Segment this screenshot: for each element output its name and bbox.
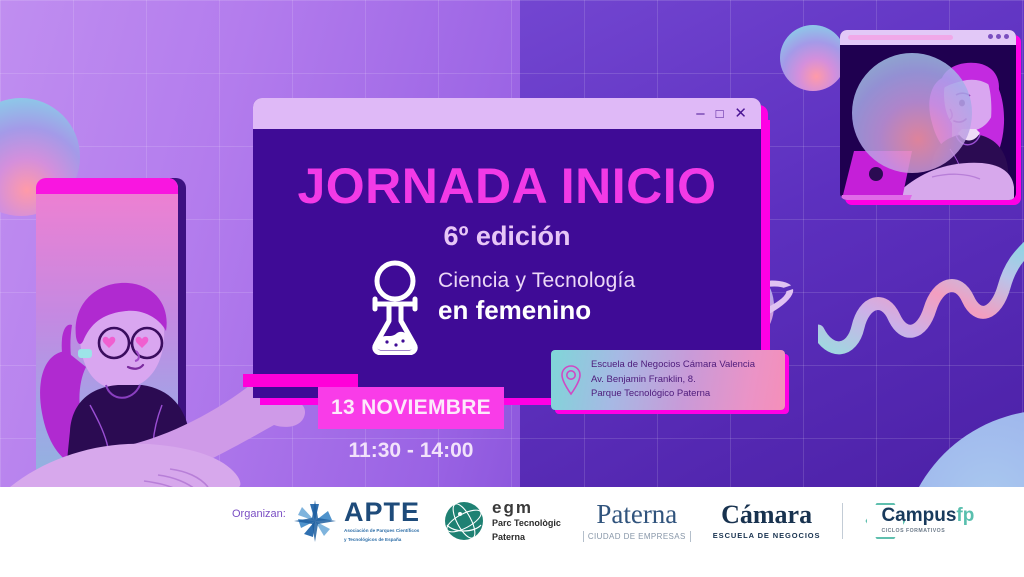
video-halo-circle xyxy=(852,53,972,173)
phone-topbar xyxy=(36,178,178,194)
window-titlebar: – □ ✕ xyxy=(253,98,761,129)
map-pin-icon xyxy=(559,364,583,396)
camara-title: Cámara xyxy=(721,502,812,528)
paterna-subtitle: CIUDAD DE EMPRESAS xyxy=(583,531,691,542)
video-call-window-illustration xyxy=(840,30,1016,200)
location-line2: Av. Benjamin Franklin, 8. xyxy=(591,374,755,387)
location-text: Escuela de Negocios Cámara Valencia Av. … xyxy=(591,359,755,401)
video-window-content xyxy=(840,45,1016,200)
edition-label: 6º edición xyxy=(253,221,761,252)
page-title: JORNADA INICIO xyxy=(253,157,761,215)
camara-text-block: Cámara ESCUELA DE NEGOCIOS xyxy=(713,502,821,540)
video-window-titlebar xyxy=(840,30,1016,45)
apte-subtitle-line1: Asociación de Parques Científicos xyxy=(344,528,420,534)
organizer-logos: APTE Asociación de Parques Científicos y… xyxy=(292,498,973,544)
campus-title-accent: fp xyxy=(956,505,974,526)
campus-wrap: Campusfp CICLOS FORMATIVOS xyxy=(865,500,973,542)
egm-subtitle-line2: Paterna xyxy=(492,532,561,543)
egm-text-block: egm Parc Tecnològic Paterna xyxy=(492,499,561,543)
logo-paterna[interactable]: Paterna CIUDAD DE EMPRESAS xyxy=(583,501,691,542)
location-line3: Parque Tecnológico Paterna xyxy=(591,388,755,401)
egm-globe-icon xyxy=(442,499,486,543)
minimize-icon[interactable]: – xyxy=(696,106,704,121)
decorative-squiggle xyxy=(818,235,1024,355)
time-label: 11:30 - 14:00 xyxy=(318,439,504,463)
apte-title: APTE xyxy=(344,499,420,526)
location-card: Escuela de Negocios Cámara Valencia Av. … xyxy=(551,350,785,410)
maximize-icon[interactable]: □ xyxy=(716,107,724,120)
egm-title: egm xyxy=(492,499,561,516)
video-window-urlbar xyxy=(848,35,953,40)
date-badge: 13 NOVIEMBRE xyxy=(318,387,504,429)
tagline-line1: Ciencia y Tecnología xyxy=(438,269,635,293)
logo-egm[interactable]: egm Parc Tecnològic Paterna xyxy=(442,499,561,543)
logo-divider xyxy=(842,503,843,539)
apte-text-block: APTE Asociación de Parques Científicos y… xyxy=(344,499,420,542)
paterna-title: Paterna xyxy=(596,501,677,528)
campus-subtitle: CICLOS FORMATIVOS xyxy=(881,528,974,534)
paterna-text-block: Paterna CIUDAD DE EMPRESAS xyxy=(583,501,691,542)
poster-canvas: </> xyxy=(0,0,1024,577)
logo-camara[interactable]: Cámara ESCUELA DE NEGOCIOS xyxy=(713,502,821,540)
apte-pinwheel-icon xyxy=(292,498,338,544)
location-line1: Escuela de Negocios Cámara Valencia xyxy=(591,359,755,372)
flask-female-icon xyxy=(363,259,427,355)
camara-subtitle: ESCUELA DE NEGOCIOS xyxy=(713,531,821,540)
tagline-line2: en femenino xyxy=(438,295,591,326)
video-window-controls xyxy=(988,34,1009,39)
logo-campus-fp[interactable]: Campusfp CICLOS FORMATIVOS xyxy=(865,500,973,542)
campus-title-main: Campus xyxy=(881,505,956,526)
campus-title: Campusfp xyxy=(881,506,974,525)
campus-text-block: Campusfp CICLOS FORMATIVOS xyxy=(881,506,974,534)
close-icon[interactable]: ✕ xyxy=(734,106,747,121)
apte-subtitle-line2: y Tecnológicos de España xyxy=(344,537,420,543)
logo-apte[interactable]: APTE Asociación de Parques Científicos y… xyxy=(292,498,420,544)
organizers-label: Organizan: xyxy=(232,508,286,520)
egm-subtitle-line1: Parc Tecnològic xyxy=(492,518,561,529)
magenta-accent-stripe-horizontal xyxy=(243,374,358,387)
decorative-sphere-topright xyxy=(780,25,846,91)
